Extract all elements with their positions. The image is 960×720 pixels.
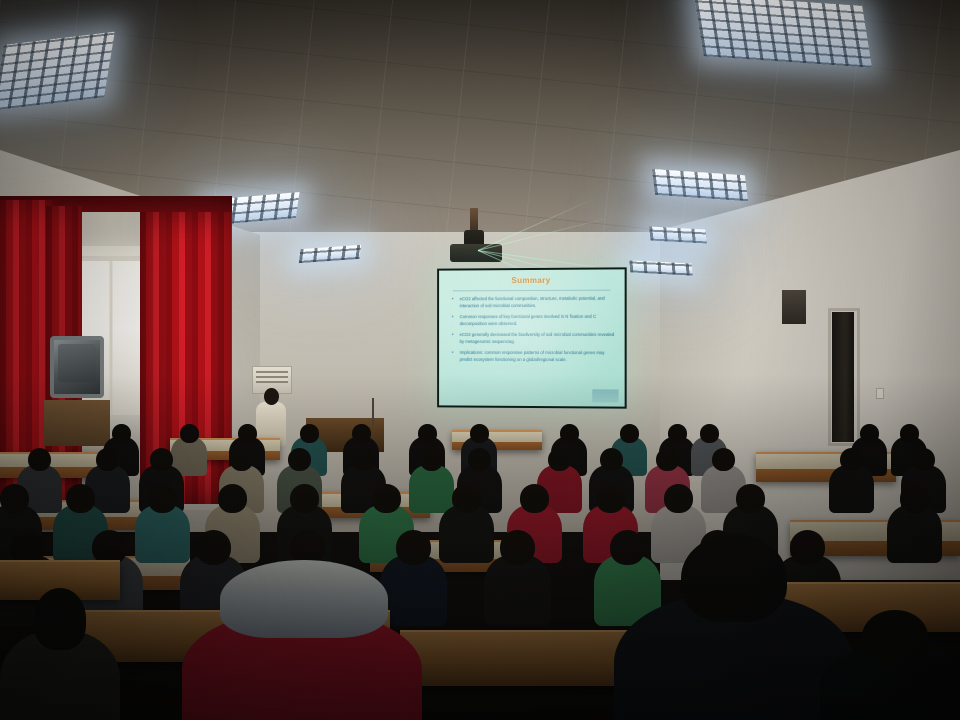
audience-head bbox=[668, 424, 687, 443]
audience-torso bbox=[439, 505, 494, 564]
audience-head bbox=[468, 448, 491, 471]
audience-head bbox=[610, 530, 645, 565]
audience-head bbox=[418, 424, 437, 443]
slide-bullet: Implications: common responsive patterns… bbox=[451, 350, 617, 363]
audience-head bbox=[352, 448, 375, 471]
projection-screen: Summary eCO2 affected the functional com… bbox=[437, 267, 627, 408]
audience-torso bbox=[829, 465, 874, 513]
audience-head bbox=[600, 448, 623, 471]
audience-head bbox=[900, 484, 929, 513]
foreground-head bbox=[681, 534, 787, 622]
lecture-hall-scene: Summary eCO2 affected the functional com… bbox=[0, 0, 960, 720]
audience-head bbox=[180, 424, 199, 443]
projector-body bbox=[450, 244, 502, 262]
audience-torso bbox=[887, 505, 942, 564]
slide-bullet: Common responses of key functional genes… bbox=[451, 314, 617, 327]
audience-head bbox=[840, 448, 863, 471]
audience-head bbox=[28, 448, 51, 471]
audience-head bbox=[352, 424, 371, 443]
audience-torso bbox=[409, 465, 454, 513]
audience-head bbox=[860, 424, 879, 443]
jacket-hood bbox=[220, 560, 388, 638]
audience-head bbox=[66, 484, 95, 513]
institution-logo-icon bbox=[592, 389, 618, 402]
audience-head bbox=[372, 484, 401, 513]
wall-speaker bbox=[782, 290, 806, 324]
audience-head bbox=[500, 530, 535, 565]
light-louver-grid bbox=[649, 227, 707, 244]
audience-torso bbox=[135, 505, 190, 564]
audience-head bbox=[520, 484, 549, 513]
audience-head bbox=[620, 424, 639, 443]
audience-head bbox=[218, 484, 247, 513]
audience-head bbox=[700, 424, 719, 443]
audience-torso bbox=[484, 555, 551, 626]
audience-head bbox=[96, 448, 119, 471]
slide-title-divider bbox=[453, 290, 611, 292]
audience-head bbox=[112, 424, 131, 443]
audience-head bbox=[300, 424, 319, 443]
audience-head bbox=[548, 448, 571, 471]
presenter-head bbox=[264, 388, 279, 405]
audience-head bbox=[912, 448, 935, 471]
slide-bullet: eCO2 generally decreased the biodiversit… bbox=[451, 332, 617, 345]
doorway[interactable] bbox=[832, 312, 854, 442]
audience-head bbox=[596, 484, 625, 513]
audience-head bbox=[148, 484, 177, 513]
audience-head bbox=[656, 448, 679, 471]
light-switch[interactable] bbox=[876, 388, 884, 399]
audience-head bbox=[420, 448, 443, 471]
audience-head bbox=[196, 530, 231, 565]
audience-head bbox=[736, 484, 765, 513]
audience-head bbox=[396, 530, 431, 565]
foreground-head bbox=[862, 610, 928, 663]
crt-television bbox=[50, 336, 104, 398]
tv-stand bbox=[44, 400, 110, 446]
slide-title: Summary bbox=[439, 275, 625, 285]
audience-head bbox=[664, 484, 693, 513]
foreground-head bbox=[34, 588, 87, 650]
audience-head bbox=[290, 484, 319, 513]
presentation-slide: Summary eCO2 affected the functional com… bbox=[439, 269, 625, 406]
audience-head bbox=[150, 448, 173, 471]
slide-bullet: eCO2 affected the functional composition… bbox=[451, 296, 617, 310]
audience-head bbox=[560, 424, 579, 443]
ceiling-light-mid-right-2 bbox=[649, 227, 707, 244]
audience-head bbox=[230, 448, 253, 471]
microphone-stand bbox=[372, 398, 374, 426]
audience-head bbox=[712, 448, 735, 471]
audience-head bbox=[238, 424, 257, 443]
slide-bullet-list: eCO2 affected the functional composition… bbox=[451, 296, 617, 369]
audience-head bbox=[900, 424, 919, 443]
audience-head bbox=[0, 484, 29, 513]
audience-head bbox=[452, 484, 481, 513]
audience-head bbox=[288, 448, 311, 471]
audience-head bbox=[790, 530, 825, 565]
audience-head bbox=[470, 424, 489, 443]
